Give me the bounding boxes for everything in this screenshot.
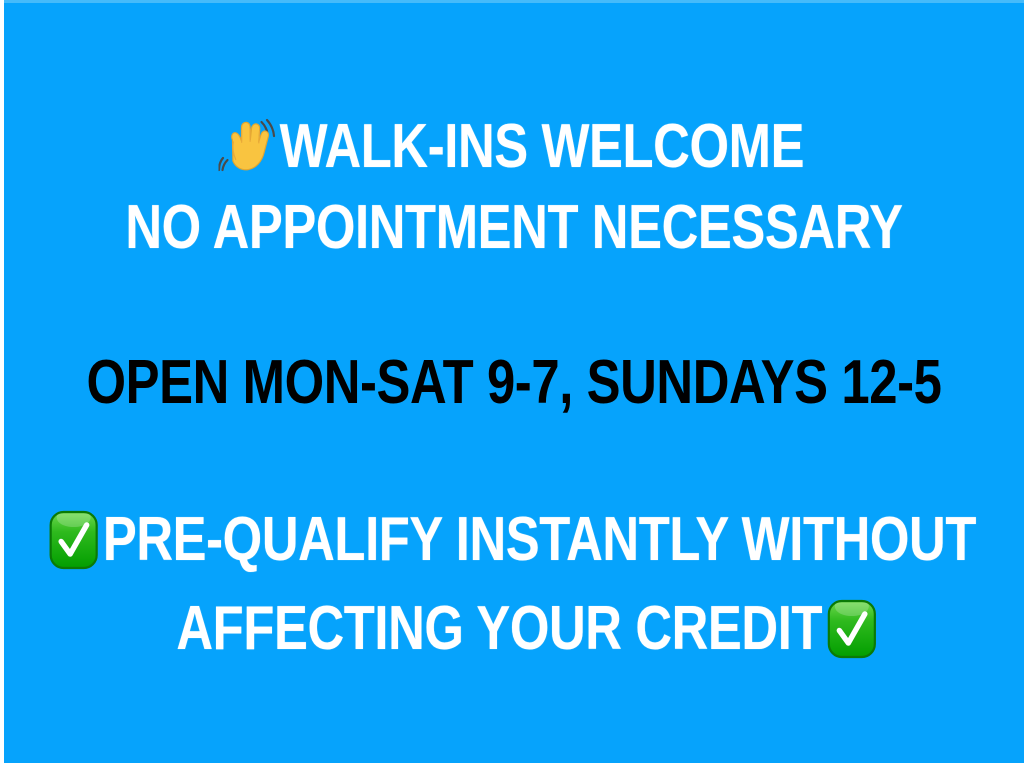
sign-line-label: WALK-INS WELCOME (280, 116, 804, 178)
sign-canvas: WALK-INS WELCOME NO APPOINTMENT NECESSAR… (0, 0, 1024, 768)
sign-line-pre-qualify-instantly: PRE-QUALIFY INSTANTLY WITHOUT (96, 503, 932, 577)
sign-line-label: OPEN MON-SAT 9-7, SUNDAYS 12-5 (86, 352, 941, 414)
sign-line-label: NO APPOINTMENT NECESSARY (125, 197, 902, 259)
sign-line-opening-hours: OPEN MON-SAT 9-7, SUNDAYS 12-5 (96, 349, 932, 417)
message-stack: WALK-INS WELCOME NO APPOINTMENT NECESSAR… (4, 0, 1024, 763)
white-check-mark-icon (826, 598, 878, 660)
sign-line-walk-ins-welcome: WALK-INS WELCOME (96, 113, 932, 181)
sign-line-label: PRE-QUALIFY INSTANTLY WITHOUT (103, 509, 976, 571)
sign-line-label: AFFECTING YOUR CREDIT (176, 598, 822, 660)
sign-line-affecting-your-credit: AFFECTING YOUR CREDIT (96, 592, 932, 666)
sign-line-no-appointment-necessary: NO APPOINTMENT NECESSARY (96, 194, 932, 262)
waving-hand-icon (219, 116, 277, 178)
white-check-mark-icon (47, 509, 99, 571)
